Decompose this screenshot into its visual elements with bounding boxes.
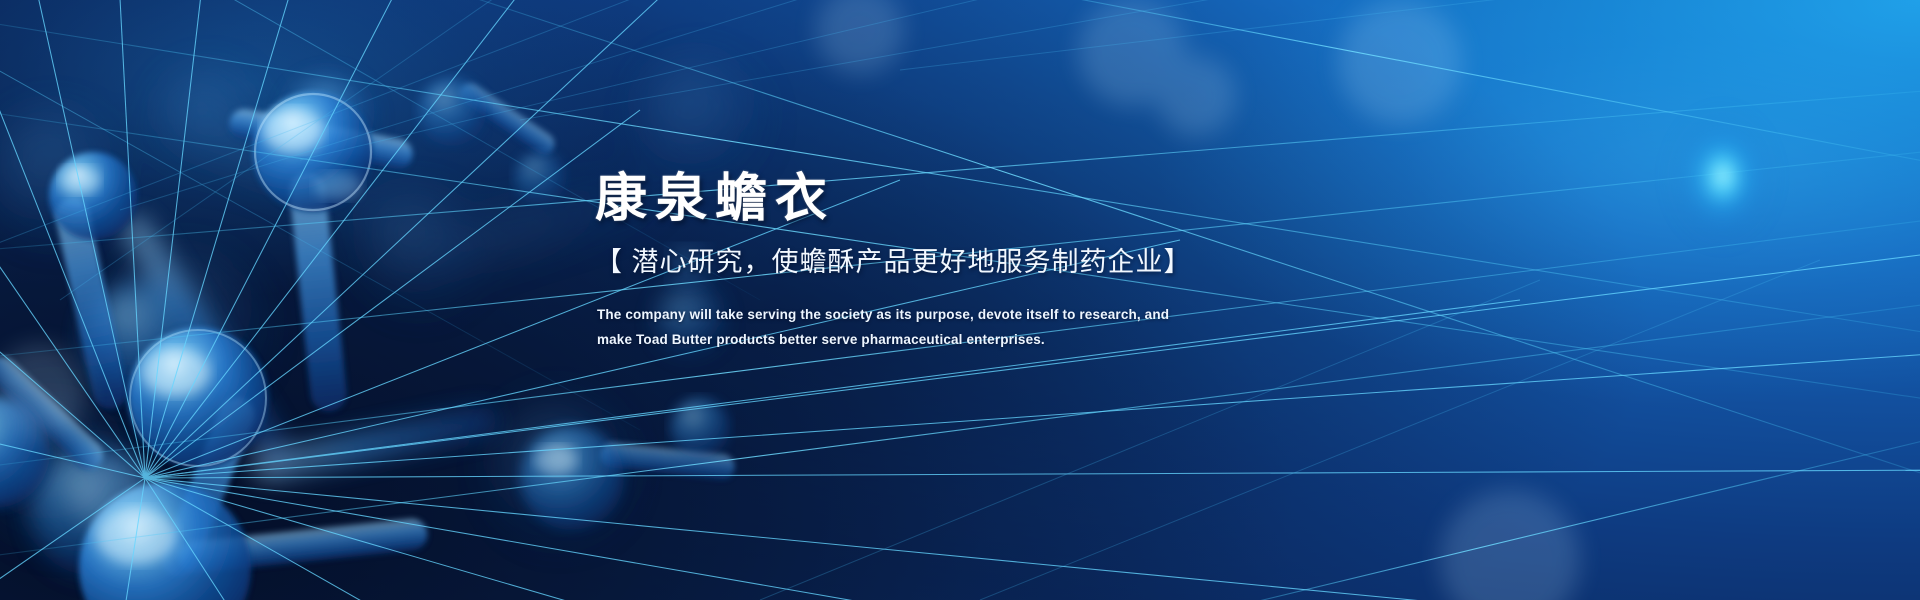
banner-subtitle: 【 潜心研究，使蟾酥产品更好地服务制药企业】 [595, 244, 1495, 280]
banner-description: The company will take serving the societ… [597, 302, 1495, 352]
banner-description-line-1: The company will take serving the societ… [597, 302, 1495, 327]
banner-title: 康泉蟾衣 [595, 168, 1495, 230]
banner-description-line-2: make Toad Butter products better serve p… [597, 327, 1495, 352]
hero-banner: 康泉蟾衣 【 潜心研究，使蟾酥产品更好地服务制药企业】 The company … [0, 0, 1920, 600]
banner-text-block: 康泉蟾衣 【 潜心研究，使蟾酥产品更好地服务制药企业】 The company … [595, 168, 1495, 352]
cyan-light-flare-core [1706, 150, 1740, 202]
